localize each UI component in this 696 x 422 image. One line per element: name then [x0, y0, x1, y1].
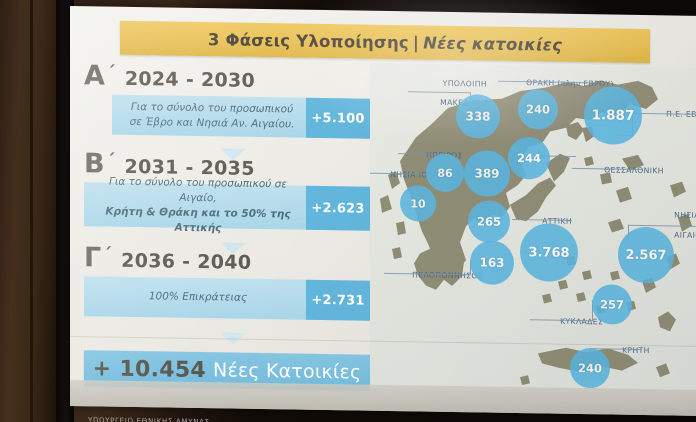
phase-a-bar: Για το σύνολο του προσωπικού σε Έβρο και…: [112, 95, 370, 139]
map-bubble-thessaly[interactable]: 389: [464, 150, 510, 197]
map-bubble-value-evros: 1.887: [592, 107, 635, 124]
map-bubble-value-crete: 240: [578, 361, 602, 375]
map-bubble-value-attica: 3.768: [528, 245, 569, 261]
phases-panel: Α ΄ 2024 - 2030 Για το σύνολο του προσωπ…: [70, 58, 370, 393]
map-label-east-aegean-line2: ΑΙΓΑΙΟΥ: [674, 230, 696, 240]
map-bubble-value-thessaly: 389: [474, 166, 499, 180]
map-bubble-value-central-greece: 265: [477, 214, 501, 228]
map-bubble-value-cyclades: 257: [600, 297, 624, 311]
phase-c-years: 2036 - 2040: [121, 250, 251, 274]
phase-b-value: +2.623: [306, 186, 370, 231]
ministry-footer: ΥΠΟΥΡΓΕΙΟ ΕΘΝΙΚΗΣ ΑΜΥΝΑΣ: [88, 416, 210, 422]
phase-a-letter: Α: [84, 62, 105, 89]
phase-b-description-line2: Κρήτη & Θράκη και το 50% της Αττικής: [98, 204, 298, 238]
photo-of-projected-slide: 3 Φάσεις Υλοποίησης|Νέες κατοικίες Α ΄ 2…: [0, 0, 696, 422]
wood-seam: [30, 0, 33, 422]
map-bubble-ionian-islands[interactable]: 10: [400, 185, 436, 222]
phase-a-years: 2024 - 2030: [125, 68, 255, 92]
presentation-slide: 3 Φάσεις Υλοποίησης|Νέες κατοικίες Α ΄ 2…: [70, 6, 696, 416]
map-bubble-value-east-aegean: 2.567: [625, 247, 666, 263]
slide-title-subtitle: Νέες κατοικίες: [423, 33, 562, 54]
phase-a-accent: ΄: [107, 63, 115, 84]
map-bubble-rest-of-macedonia[interactable]: 338: [456, 94, 500, 139]
map-bubble-east-aegean-islands[interactable]: 2.567: [618, 227, 674, 284]
map-bubble-value-thrace: 240: [526, 102, 550, 116]
phase-block-b: Β ΄ 2031 - 2035 Για το σύνολο του προσωπ…: [70, 150, 370, 231]
map-label-thessaloniki-text: ΘΕΣΣΑΛΟΝΙΚΗ: [604, 166, 664, 176]
phase-a-header: Α ΄ 2024 - 2030: [70, 62, 370, 94]
map-bubble-epirus[interactable]: 86: [426, 154, 464, 193]
map-label-thessaloniki: ΘΕΣΣΑΛΟΝΙΚΗ: [576, 156, 664, 186]
map-bubble-peloponnese[interactable]: 163: [470, 240, 514, 285]
phase-c-letter: Γ: [84, 244, 101, 271]
map-bubble-central-greece[interactable]: 265: [468, 200, 510, 243]
map-bubble-value-thessaloniki: 244: [517, 151, 541, 165]
greece-map: ΥΠΟΛΟΙΠΗ ΜΑΚΕΔΟΝΙΑ ΘΡΑΚΗ (πλην ΕΒΡΟΥ) Π.…: [370, 63, 696, 398]
phase-b-description-line1: Για το σύνολο του προσωπικού σε Αιγαίο,: [98, 174, 298, 208]
phase-c-accent: ΄: [103, 245, 111, 266]
phase-c-header: Γ ΄ 2036 - 2040: [70, 244, 370, 276]
map-bubble-thessaloniki[interactable]: 244: [508, 137, 550, 180]
map-label-cyclades-text: ΚΥΚΛΑΔΕΣ: [560, 317, 603, 327]
map-label-crete-text: ΚΡΗΤΗ: [622, 346, 650, 355]
phase-b-bar: Για το σύνολο του προσωπικού σε Αιγαίο, …: [84, 182, 370, 230]
phase-a-description-line2: σε Έβρο και Νησιά Αν. Αιγαίου.: [126, 115, 298, 133]
map-label-east-aegean-line1: ΝΗΣΙΑ ΑΝΑΤ.: [674, 210, 696, 220]
map-bubble-crete[interactable]: 240: [570, 348, 610, 389]
map-bubble-value-epirus: 86: [437, 166, 452, 179]
total-number: + 10.454: [93, 356, 206, 383]
slide-title-main: 3 Φάσεις Υλοποίησης: [208, 30, 409, 52]
map-bubble-evros[interactable]: 1.887: [584, 86, 642, 145]
slide-title-bar: 3 Φάσεις Υλοποίησης|Νέες κατοικίες: [120, 21, 650, 63]
map-bubble-thrace[interactable]: 240: [518, 89, 558, 130]
map-bubble-value-ionian: 10: [410, 197, 425, 210]
phase-block-a: Α ΄ 2024 - 2030 Για το σύνολο του προσωπ…: [70, 62, 370, 139]
map-label-peloponnese: ΠΕΛΟΠΟΝΝΗΣΟΣ: [384, 261, 483, 291]
wooden-frame-left: [0, 0, 58, 422]
map-label-rest-of-macedonia-line1: ΥΠΟΛΟΙΠΗ: [443, 79, 487, 89]
map-bubble-attica[interactable]: 3.768: [520, 223, 578, 282]
phase-c-description: 100% Επικράτειας: [84, 289, 306, 308]
slide-title-separator: |: [413, 33, 419, 52]
phase-c-value: +2.731: [306, 280, 370, 321]
phase-b-accent: ΄: [107, 151, 115, 172]
phase-b-description: Για το σύνολο του προσωπικού σε Αιγαίο, …: [84, 174, 306, 238]
phase-c-description-line1: 100% Επικράτειας: [98, 289, 298, 307]
map-bubble-value-macedonia: 338: [465, 109, 490, 123]
map-label-thrace-text: ΘΡΑΚΗ (πλην ΕΒΡΟΥ): [526, 79, 614, 89]
map-bubble-cyclades[interactable]: 257: [592, 284, 632, 325]
slide-title: 3 Φάσεις Υλοποίησης|Νέες κατοικίες: [208, 30, 562, 55]
map-label-evros: Π.Ε. ΕΒΡΟΥ: [638, 100, 696, 130]
total-label: Νέες Κατοικίες: [213, 359, 361, 383]
map-bubble-value-peloponnese: 163: [479, 255, 504, 269]
phase-a-description: Για το σύνολο του προσωπικού σε Έβρο και…: [112, 99, 306, 132]
phase-a-value: +5.100: [306, 98, 370, 139]
phase-block-c: Γ ΄ 2036 - 2040 100% Επικράτειας +2.731: [70, 244, 370, 321]
phase-c-bar: 100% Επικράτειας +2.731: [84, 276, 370, 320]
